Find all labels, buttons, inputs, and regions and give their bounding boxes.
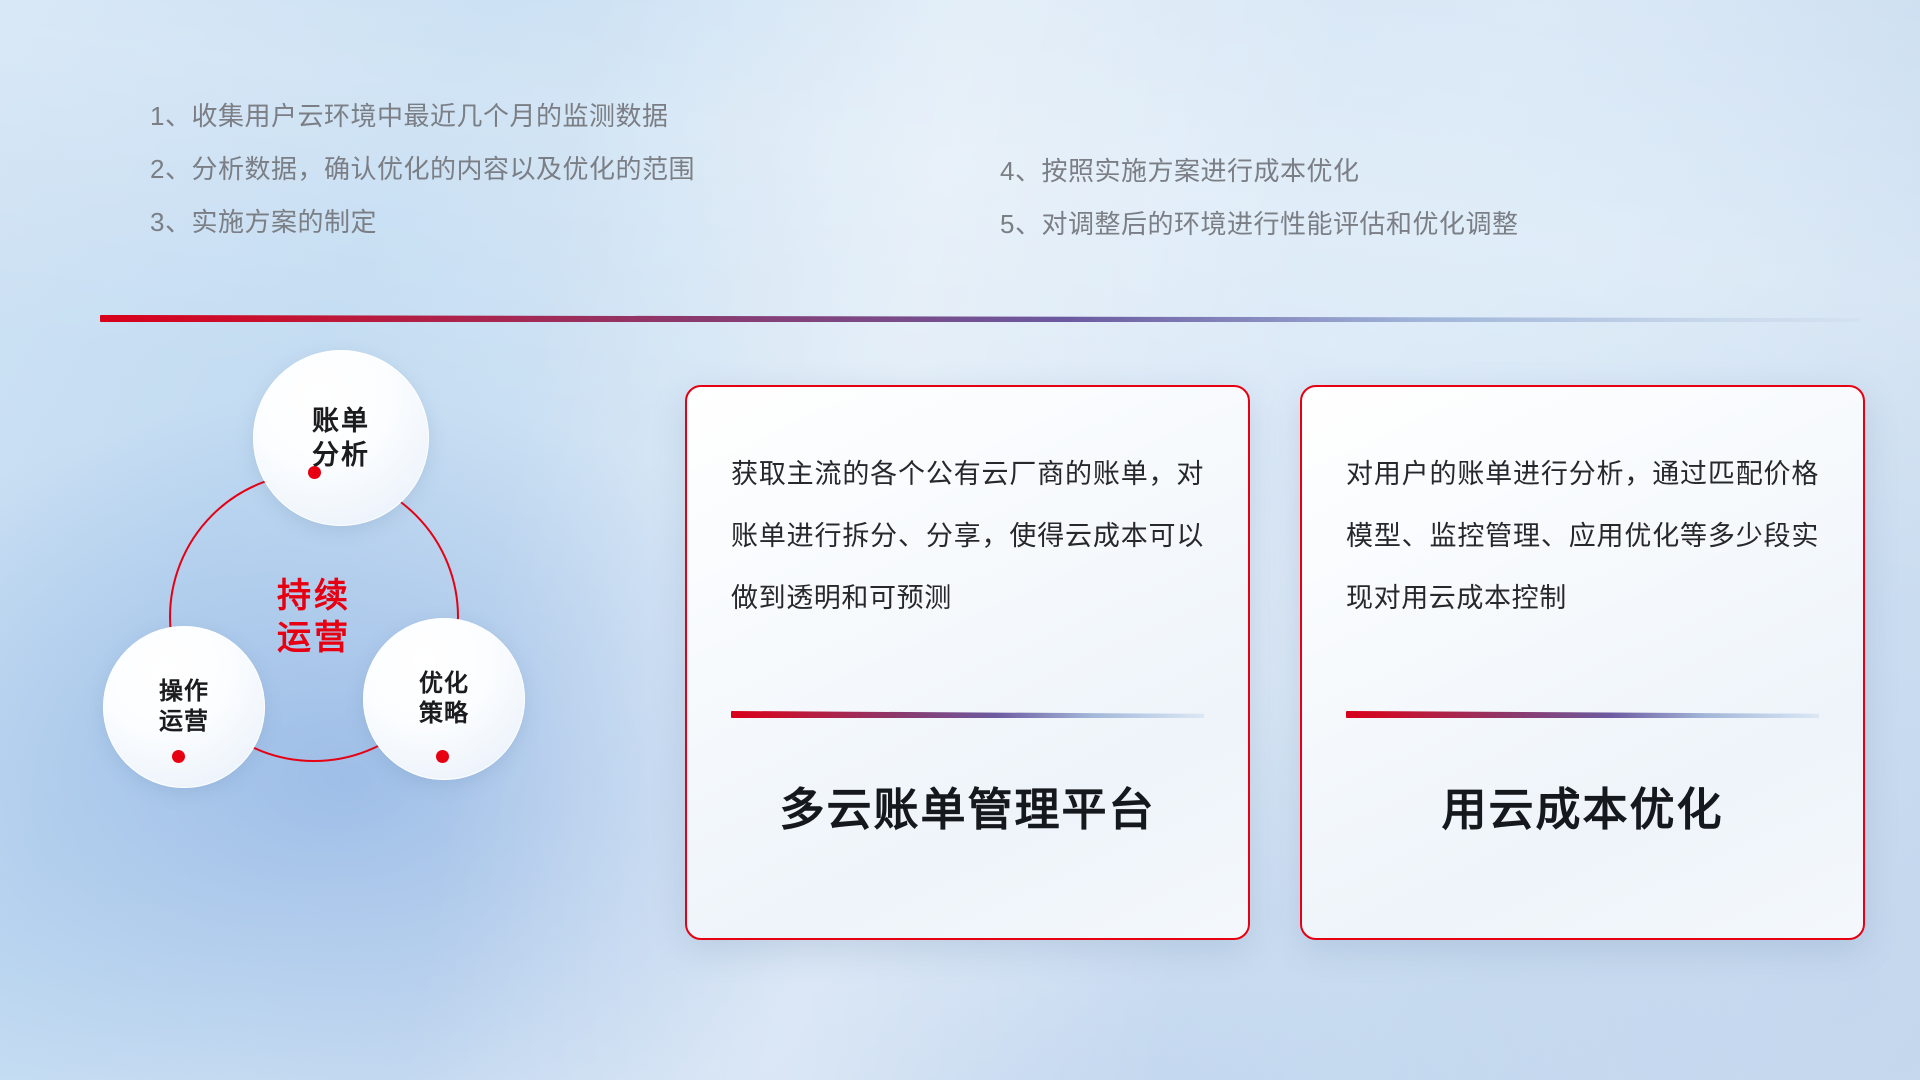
bubble-label-line1: 操作 bbox=[159, 677, 209, 707]
card-title: 多云账单管理平台 bbox=[731, 773, 1204, 838]
card-divider-rule bbox=[1346, 711, 1819, 718]
card-body-text: 获取主流的各个公有云厂商的账单，对账单进行拆分、分享，使得云成本可以做到透明和可… bbox=[731, 443, 1204, 693]
bubble-bill-analysis[interactable]: 账单 分析 bbox=[253, 350, 429, 526]
card-cloud-cost-optimization[interactable]: 对用户的账单进行分析，通过匹配价格模型、监控管理、应用优化等多少段实现对用云成本… bbox=[1300, 385, 1865, 940]
center-label-line2: 运营 bbox=[277, 617, 351, 660]
continuous-operation-diagram: 持续 运营 账单 分析 操作 运营 优化 策略 bbox=[95, 350, 625, 950]
bubble-operation[interactable]: 操作 运营 bbox=[103, 626, 265, 788]
step-item: 2、分析数据，确认优化的内容以及优化的范围 bbox=[150, 156, 695, 182]
step-item: 1、收集用户云环境中最近几个月的监测数据 bbox=[150, 103, 695, 129]
steps-list-right: 4、按照实施方案进行成本优化 5、对调整后的环境进行性能评估和优化调整 bbox=[1000, 158, 1518, 264]
center-label-line1: 持续 bbox=[277, 575, 351, 618]
card-title: 用云成本优化 bbox=[1346, 773, 1819, 838]
step-item: 5、对调整后的环境进行性能评估和优化调整 bbox=[1000, 211, 1518, 237]
bubble-label-line1: 优化 bbox=[419, 669, 469, 699]
slide-canvas: 1、收集用户云环境中最近几个月的监测数据 2、分析数据，确认优化的内容以及优化的… bbox=[0, 0, 1920, 1080]
card-multicloud-bill-platform[interactable]: 获取主流的各个公有云厂商的账单，对账单进行拆分、分享，使得云成本可以做到透明和可… bbox=[685, 385, 1250, 940]
card-divider-rule bbox=[731, 711, 1204, 718]
bubble-label-line2: 分析 bbox=[312, 438, 370, 472]
header-divider-rule bbox=[100, 315, 1860, 322]
node-dot-right-icon bbox=[436, 750, 449, 763]
node-dot-left-icon bbox=[172, 750, 185, 763]
step-item: 4、按照实施方案进行成本优化 bbox=[1000, 158, 1518, 184]
step-item: 3、实施方案的制定 bbox=[150, 209, 695, 235]
steps-list-left: 1、收集用户云环境中最近几个月的监测数据 2、分析数据，确认优化的内容以及优化的… bbox=[150, 103, 695, 262]
card-body-text: 对用户的账单进行分析，通过匹配价格模型、监控管理、应用优化等多少段实现对用云成本… bbox=[1346, 443, 1819, 693]
bubble-label-line1: 账单 bbox=[312, 404, 370, 438]
node-dot-top-icon bbox=[308, 466, 321, 479]
bubble-label-line2: 策略 bbox=[419, 699, 469, 729]
bubble-label-line2: 运营 bbox=[159, 707, 209, 737]
